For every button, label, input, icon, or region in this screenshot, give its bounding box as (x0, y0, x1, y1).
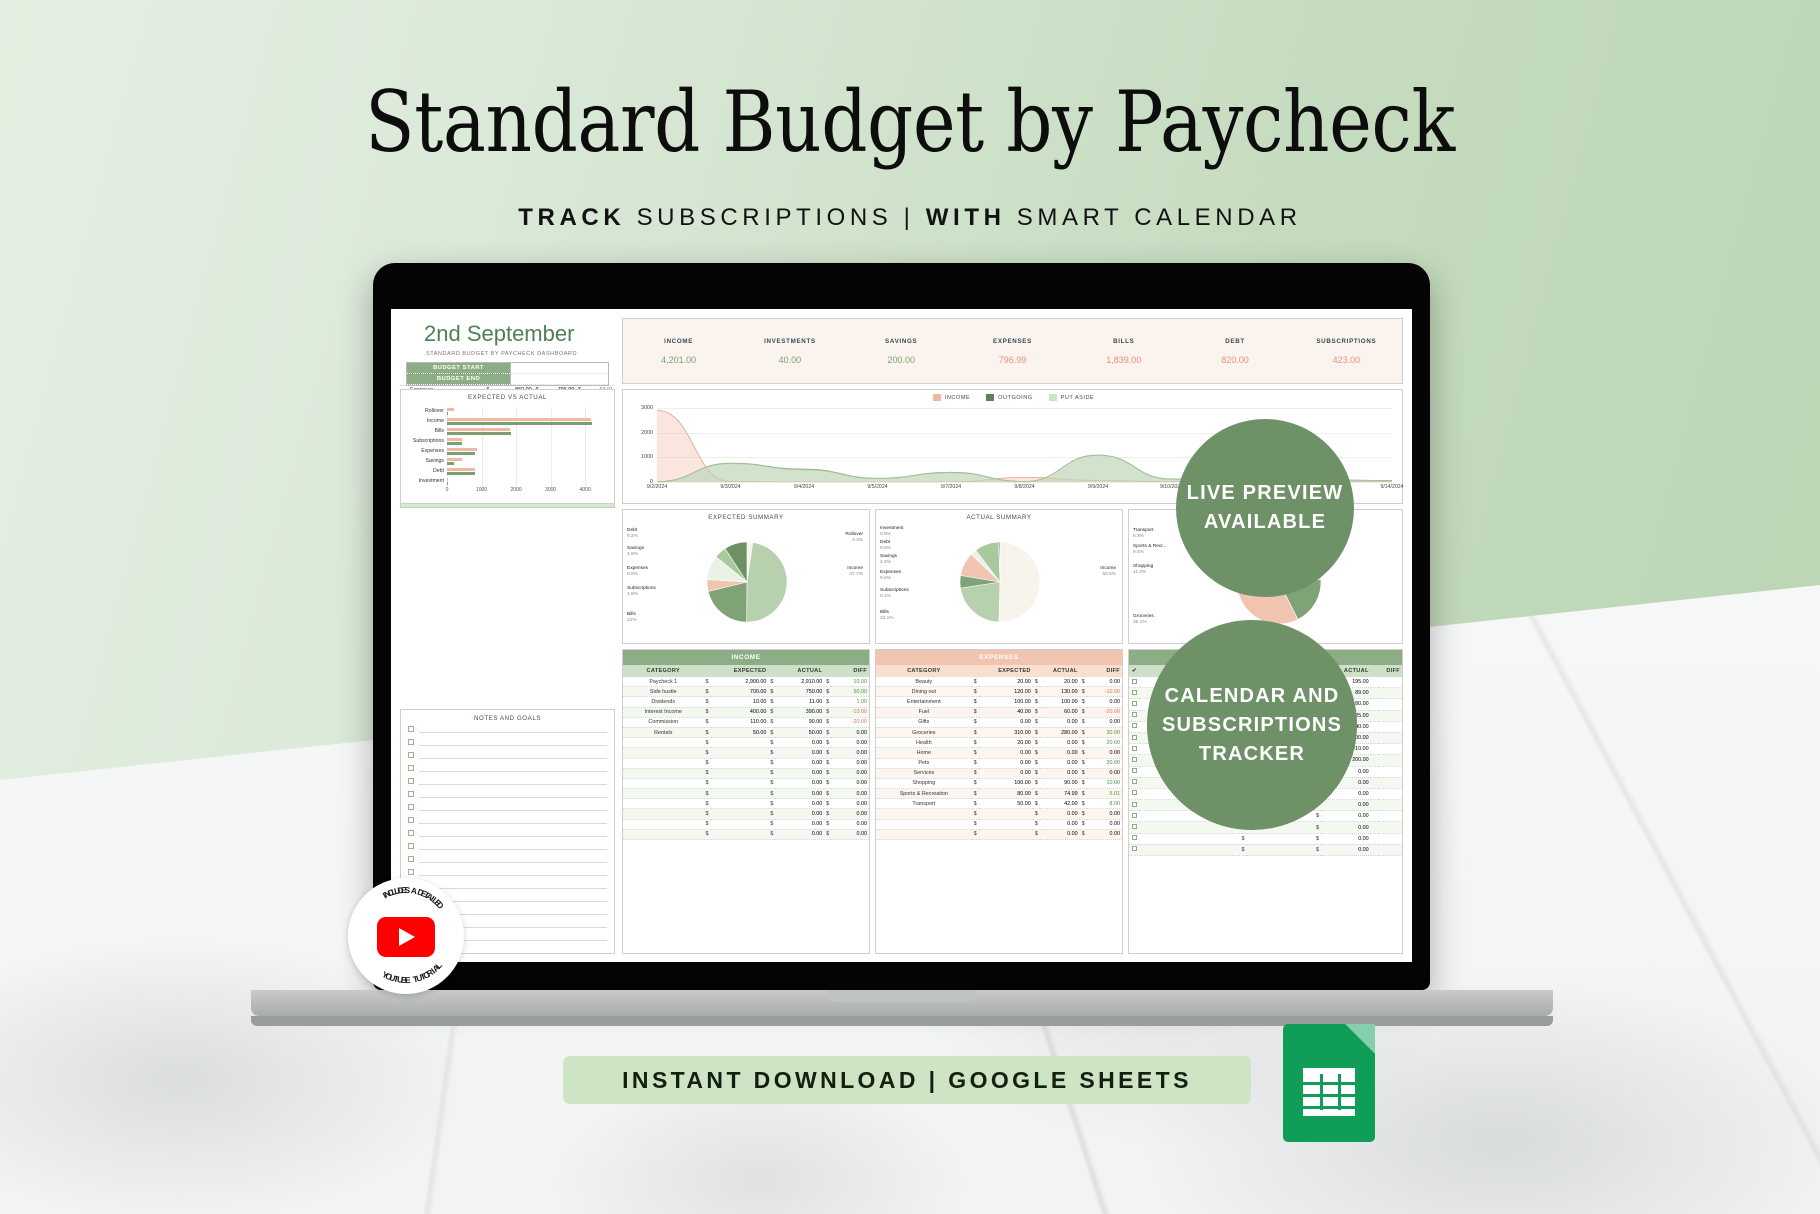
row-actual: 90.00 (1040, 778, 1080, 788)
note-line[interactable] (408, 839, 607, 852)
row-diff (1378, 811, 1402, 822)
row-currency: $ (972, 778, 979, 788)
row-diff: -20.00 (1087, 707, 1122, 717)
eva-row: Subscriptions (447, 437, 599, 446)
row-diff (1378, 766, 1402, 777)
pie-label-percent: 9.8% (627, 572, 648, 578)
table-row[interactable]: $$0.00 (1129, 833, 1402, 844)
legend-item-income: INCOME (933, 394, 970, 401)
row-diff: 0.00 (831, 809, 869, 819)
row-category: Fuel (876, 707, 972, 717)
page-subtitle: TRACK SUBSCRIPTIONS | WITH SMART CALENDA… (0, 204, 1820, 232)
table-row[interactable]: $$0.00$0.00 (876, 829, 1122, 839)
sheets-grid (1303, 1068, 1355, 1116)
row-category (623, 778, 704, 788)
table-row[interactable]: $$0.00$0.00 (623, 809, 869, 819)
table-row[interactable]: $$0.00$0.00 (876, 819, 1122, 829)
row-currency: $ (704, 789, 711, 799)
row-currency: $ (704, 697, 711, 707)
pie-label-percent: 4.9% (627, 552, 644, 558)
row-currency: $ (1033, 717, 1040, 727)
table-row[interactable]: Dividends$10.00$11.00$1.00 (623, 697, 869, 707)
table-row[interactable]: Health$20.00$0.00$20.00 (876, 738, 1122, 748)
note-checkbox[interactable] (408, 830, 414, 836)
row-diff (1378, 744, 1402, 755)
note-line[interactable] (408, 865, 607, 878)
row-currency: $ (972, 738, 979, 748)
row-currency: $ (972, 727, 979, 737)
table-row[interactable]: $$0.00 (1129, 844, 1402, 855)
table-row[interactable]: $$0.00$0.00 (623, 768, 869, 778)
table-row[interactable]: Sports & Recreation$80.00$74.99$5.01 (876, 789, 1122, 799)
row-category (876, 829, 972, 839)
pie-label-bills: Bills21% (627, 612, 637, 625)
row-diff: 5.01 (1087, 789, 1122, 799)
row-currency: $ (1239, 844, 1246, 855)
row-checkbox[interactable] (1129, 822, 1140, 833)
row-diff: 10.00 (1087, 778, 1122, 788)
note-checkbox[interactable] (408, 726, 414, 732)
expenses-table: CATEGORYEXPECTEDACTUALDIFF Beauty$20.00$… (876, 665, 1122, 840)
note-checkbox[interactable] (408, 791, 414, 797)
note-line[interactable] (408, 774, 607, 787)
row-category (1140, 833, 1239, 844)
row-currency: $ (1033, 819, 1040, 829)
row-currency: $ (704, 687, 711, 697)
row-expected: 0.00 (979, 758, 1033, 768)
row-actual: 20.00 (1040, 677, 1080, 687)
row-currency: $ (972, 748, 979, 758)
area-x-tick: 9/5/2024 (867, 484, 887, 490)
note-checkbox[interactable] (408, 843, 414, 849)
note-input[interactable] (419, 802, 607, 811)
eva-row: Bills (447, 427, 599, 436)
row-actual: 0.00 (775, 819, 824, 829)
pie-slice-bills (960, 582, 1000, 622)
note-checkbox[interactable] (408, 856, 414, 862)
table-row[interactable]: Transport$50.00$42.00$8.00 (876, 799, 1122, 809)
row-currency: $ (1080, 799, 1087, 809)
row-category: Shopping (876, 778, 972, 788)
kpi-label: BILLS (1068, 338, 1179, 345)
table-row[interactable]: Fuel$40.00$60.00$-20.00 (876, 707, 1122, 717)
area-x-tick: 9/9/2024 (1088, 484, 1108, 490)
row-checkbox[interactable] (1129, 777, 1140, 788)
row-currency: $ (1080, 717, 1087, 727)
row-diff: -20.00 (831, 717, 869, 727)
row-expected: 40.00 (979, 707, 1033, 717)
sheets-grid-line (1303, 1082, 1355, 1085)
note-line[interactable] (408, 852, 607, 865)
row-category: Sports & Recreation (876, 789, 972, 799)
eva-bar-actual (447, 412, 448, 415)
note-input[interactable] (419, 789, 607, 798)
row-currency: $ (1080, 809, 1087, 819)
row-diff: 0.00 (831, 738, 869, 748)
row-currency: $ (1314, 811, 1321, 822)
row-actual: 74.99 (1040, 789, 1080, 799)
area-x-tick: 9/14/2024 (1380, 484, 1403, 490)
row-category (623, 809, 704, 819)
row-currency: $ (824, 768, 831, 778)
row-currency (1371, 822, 1378, 833)
table-row[interactable]: $$0.00$0.00 (623, 799, 869, 809)
pie-label-income: Income47.7% (847, 566, 863, 579)
row-currency: $ (1080, 819, 1087, 829)
eva-x-axis: 01000200030004000 (447, 487, 599, 497)
area-y-tick: 3000 (641, 405, 657, 411)
row-checkbox[interactable] (1129, 833, 1140, 844)
note-input[interactable] (419, 841, 607, 850)
row-currency: $ (1314, 844, 1321, 855)
row-actual: 0.00 (1040, 748, 1080, 758)
table-row[interactable]: Rentals$50.00$50.00$0.00 (623, 727, 869, 737)
table-row[interactable]: Paycheck 1$2,900.00$2,910.00$10.00 (623, 677, 869, 687)
dashboard-header: 2nd September STANDARD BUDGET BY PAYCHEC… (400, 318, 615, 384)
row-expected: 100.00 (979, 778, 1033, 788)
row-currency: $ (972, 677, 979, 687)
row-actual: 0.00 (775, 809, 824, 819)
row-diff: 20.00 (1087, 738, 1122, 748)
row-diff: -10.00 (831, 707, 869, 717)
pie-label-percent: 5.1% (880, 594, 909, 600)
pie-label-savings: Savings2.4% (880, 554, 897, 567)
table-row[interactable]: Gifts$0.00$0.00$0.00 (876, 717, 1122, 727)
laptop-notch (828, 990, 976, 1002)
row-currency (1371, 811, 1378, 822)
row-actual: 280.00 (1040, 727, 1080, 737)
row-currency: $ (824, 789, 831, 799)
row-expected (711, 789, 769, 799)
expenses-title: EXPENSES (876, 650, 1122, 665)
table-row[interactable]: Beauty$20.00$20.00$0.00 (876, 677, 1122, 687)
row-currency: $ (972, 829, 979, 839)
row-currency: $ (1033, 829, 1040, 839)
pie-label-percent: 22.1% (880, 616, 894, 622)
row-diff (1378, 788, 1402, 799)
table-row[interactable]: $$0.00$0.00 (623, 789, 869, 799)
sheets-grid-line (1338, 1074, 1341, 1110)
pie-svg (876, 510, 1122, 645)
note-input[interactable] (419, 763, 607, 772)
row-expected (711, 819, 769, 829)
pie-label-percent: 4.8% (627, 592, 656, 598)
pie-label-percent: 5.3% (1133, 534, 1153, 540)
note-checkbox[interactable] (408, 804, 414, 810)
row-currency: $ (1033, 799, 1040, 809)
notes-title: NOTES AND GOALS (401, 710, 614, 722)
row-category (623, 768, 704, 778)
row-currency: $ (704, 799, 711, 809)
row-expected (979, 809, 1033, 819)
row-actual: 0.00 (1321, 822, 1371, 833)
row-currency: $ (1080, 697, 1087, 707)
row-checkbox[interactable] (1129, 811, 1140, 822)
note-input[interactable] (419, 867, 607, 876)
row-actual: 0.00 (775, 768, 824, 778)
table-row[interactable]: $$0.00$0.00 (623, 758, 869, 768)
row-expected: 20.00 (979, 677, 1033, 687)
note-input[interactable] (419, 737, 607, 746)
row-actual: 50.00 (775, 727, 824, 737)
eva-bar-actual (447, 452, 475, 455)
note-input[interactable] (419, 776, 607, 785)
row-checkbox[interactable] (1129, 732, 1140, 743)
row-category: Home (876, 748, 972, 758)
table-row[interactable]: $$0.00$0.00 (623, 748, 869, 758)
pie-label-percent: 21% (627, 618, 637, 624)
note-input[interactable] (419, 724, 607, 733)
table-row[interactable]: Shopping$100.00$90.00$10.00 (876, 778, 1122, 788)
row-category (623, 748, 704, 758)
row-expected (1246, 833, 1313, 844)
seal-char: E (405, 975, 411, 985)
eva-bar-actual (447, 422, 592, 425)
expenses-body: Beauty$20.00$20.00$0.00Dining out$120.00… (876, 677, 1122, 840)
row-expected: 700.00 (711, 687, 769, 697)
row-currency: $ (824, 738, 831, 748)
row-checkbox[interactable] (1129, 788, 1140, 799)
note-checkbox[interactable] (408, 765, 414, 771)
row-category: Interest Income (623, 707, 704, 717)
row-actual: 390.00 (775, 707, 824, 717)
column-header: DIFF (1371, 665, 1402, 677)
dashboard-month: 2nd September (400, 318, 615, 347)
row-diff: 0.00 (831, 768, 869, 778)
budget-start-input[interactable] (510, 363, 608, 374)
kpi-value: 820.00 (1179, 355, 1290, 365)
row-diff: 0.00 (831, 829, 869, 839)
table-row[interactable]: $$0.00$0.00 (623, 778, 869, 788)
row-currency: $ (704, 768, 711, 778)
table-row[interactable]: Side hustle$700.00$750.00$50.00 (623, 687, 869, 697)
table-row[interactable]: Interest Income$400.00$390.00$-10.00 (623, 707, 869, 717)
row-category: Pets (876, 758, 972, 768)
row-currency: $ (704, 758, 711, 768)
kpi-income: INCOME4,201.00 (623, 338, 734, 365)
table-row[interactable]: Services$0.00$0.00$0.00 (876, 768, 1122, 778)
row-currency: $ (768, 717, 775, 727)
eva-bar-expected (447, 438, 462, 441)
table-row[interactable]: $$0.00$0.00 (623, 738, 869, 748)
table-row[interactable]: Home$0.00$0.00$0.00 (876, 748, 1122, 758)
row-expected: 0.00 (979, 717, 1033, 727)
row-actual: 0.00 (775, 748, 824, 758)
row-diff (1378, 755, 1402, 766)
row-currency: $ (704, 778, 711, 788)
kpi-value: 423.00 (1291, 355, 1402, 365)
row-diff: 0.00 (831, 758, 869, 768)
row-diff: 0.00 (831, 799, 869, 809)
row-currency: $ (704, 707, 711, 717)
row-currency: $ (824, 758, 831, 768)
row-currency: $ (824, 819, 831, 829)
row-actual: 0.00 (775, 758, 824, 768)
table-row[interactable]: Dining out$120.00$130.00$-10.00 (876, 687, 1122, 697)
row-expected: 50.00 (711, 727, 769, 737)
row-currency: $ (1033, 789, 1040, 799)
note-checkbox[interactable] (408, 752, 414, 758)
row-actual: 0.00 (1321, 811, 1371, 822)
note-input[interactable] (419, 854, 607, 863)
table-row[interactable]: $$0.00$0.00 (876, 809, 1122, 819)
row-expected: 100.00 (979, 697, 1033, 707)
row-checkbox[interactable] (1129, 721, 1140, 732)
row-currency: $ (1033, 707, 1040, 717)
row-currency: $ (824, 809, 831, 819)
note-line[interactable] (408, 748, 607, 761)
row-actual: 0.00 (1040, 738, 1080, 748)
row-checkbox[interactable] (1129, 800, 1140, 811)
row-actual: 0.00 (775, 799, 824, 809)
note-line[interactable] (408, 722, 607, 735)
budget-end-input[interactable] (510, 374, 608, 385)
row-currency: $ (824, 717, 831, 727)
eva-category-label: Subscriptions (413, 437, 447, 446)
legend-item-outgoing: OUTGOING (986, 394, 1032, 401)
pie-label-percent: 9.2% (627, 534, 638, 540)
budget-end-row: BUDGET END (407, 374, 608, 385)
sheets-grid-line (1320, 1074, 1323, 1110)
row-checkbox[interactable] (1129, 755, 1140, 766)
row-currency: $ (972, 789, 979, 799)
row-checkbox[interactable] (1129, 710, 1140, 721)
row-currency: $ (704, 819, 711, 829)
table-row[interactable]: Entertainment$100.00$100.00$0.00 (876, 697, 1122, 707)
kpi-savings: SAVINGS200.00 (846, 338, 957, 365)
kpi-value: 40.00 (734, 355, 845, 365)
row-currency: $ (768, 727, 775, 737)
row-diff: 0.00 (1087, 697, 1122, 707)
note-checkbox[interactable] (408, 778, 414, 784)
note-line[interactable] (408, 813, 607, 826)
note-checkbox[interactable] (408, 739, 414, 745)
row-category: Dining out (876, 687, 972, 697)
row-currency: $ (1080, 829, 1087, 839)
pie-slice-income (999, 542, 1040, 622)
row-currency: $ (1314, 833, 1321, 844)
row-category: Dividends (623, 697, 704, 707)
row-actual: 90.00 (775, 717, 824, 727)
row-currency: $ (1033, 748, 1040, 758)
row-currency: $ (824, 799, 831, 809)
legend-swatch (1049, 394, 1057, 401)
eva-bar-actual (447, 462, 454, 465)
note-input[interactable] (419, 828, 607, 837)
subtitle-subscriptions: SUBSCRIPTIONS | (637, 204, 915, 231)
note-line[interactable] (408, 800, 607, 813)
row-currency (1371, 788, 1378, 799)
row-currency: $ (768, 768, 775, 778)
row-checkbox[interactable] (1129, 766, 1140, 777)
note-line[interactable] (408, 735, 607, 748)
note-checkbox[interactable] (408, 817, 414, 823)
note-input[interactable] (419, 815, 607, 824)
subtitle-track: TRACK (518, 204, 625, 231)
note-line[interactable] (408, 826, 607, 839)
row-currency: $ (704, 809, 711, 819)
area-x-tick: 9/3/2024 (720, 484, 740, 490)
kpi-label: INVESTMENTS (734, 338, 845, 345)
row-currency: $ (972, 809, 979, 819)
sheets-grid-line (1303, 1094, 1355, 1097)
row-diff: -10.00 (1087, 687, 1122, 697)
row-expected: 310.00 (979, 727, 1033, 737)
eva-bar-expected (447, 478, 448, 481)
row-currency (1371, 755, 1378, 766)
income-table-panel: INCOME CATEGORYEXPECTEDACTUALDIFF Payche… (622, 649, 870, 954)
row-category (876, 809, 972, 819)
pie-label-percent: 50.5% (1100, 572, 1116, 578)
row-category: Health (876, 738, 972, 748)
note-input[interactable] (419, 750, 607, 759)
kpi-label: SUBSCRIPTIONS (1291, 338, 1402, 345)
row-checkbox[interactable] (1129, 677, 1140, 688)
pie-label-percent: 9.9% (880, 546, 891, 552)
note-checkbox[interactable] (408, 869, 414, 875)
table-row[interactable]: $$0.00$0.00 (623, 829, 869, 839)
table-row[interactable]: $$0.00$0.00 (623, 819, 869, 829)
budget-end-label: BUDGET END (407, 374, 510, 385)
area-y-tick: 1000 (641, 454, 657, 460)
row-diff: 1.00 (831, 697, 869, 707)
row-currency: $ (824, 707, 831, 717)
row-currency (1371, 777, 1378, 788)
row-diff: 0.00 (1087, 677, 1122, 687)
row-checkbox[interactable] (1129, 688, 1140, 699)
column-header: ACTUAL (1033, 665, 1080, 677)
pie-svg (623, 510, 869, 645)
income-body: Paycheck 1$2,900.00$2,910.00$10.00Side h… (623, 677, 869, 840)
eva-bar-expected (447, 458, 462, 461)
row-currency: $ (824, 778, 831, 788)
row-currency: $ (972, 717, 979, 727)
row-checkbox[interactable] (1129, 699, 1140, 710)
row-currency: $ (1080, 789, 1087, 799)
pie-label-percent: 35.1% (1133, 620, 1154, 626)
row-diff: 0.00 (831, 789, 869, 799)
note-line[interactable] (408, 787, 607, 800)
row-diff (1378, 677, 1402, 688)
row-currency: $ (768, 697, 775, 707)
kpi-value: 200.00 (846, 355, 957, 365)
column-header: DIFF (824, 665, 869, 677)
row-actual: 0.00 (1040, 829, 1080, 839)
eva-category-label: Debt (433, 467, 447, 476)
row-category (623, 829, 704, 839)
row-checkbox[interactable] (1129, 744, 1140, 755)
pie-label-shopping: Shopping11.3% (1133, 564, 1153, 577)
table-row[interactable]: Commission$110.00$90.00$-20.00 (623, 717, 869, 727)
note-line[interactable] (408, 761, 607, 774)
row-checkbox[interactable] (1129, 844, 1140, 855)
row-expected (711, 809, 769, 819)
row-currency: $ (1314, 822, 1321, 833)
row-currency: $ (704, 677, 711, 687)
row-currency: $ (1033, 677, 1040, 687)
row-category: Gifts (876, 717, 972, 727)
pie-label-transport: Transport5.3% (1133, 528, 1153, 541)
column-header: EXPECTED (704, 665, 769, 677)
row-category: Groceries (876, 727, 972, 737)
row-currency: $ (704, 748, 711, 758)
table-row[interactable]: Pets$0.00$0.00$20.00 (876, 758, 1122, 768)
area-x-tick: 9/7/2024 (941, 484, 961, 490)
row-diff: 0.00 (1087, 748, 1122, 758)
pie-label-investment: Investment0.5% (880, 526, 903, 539)
table-row[interactable]: Groceries$310.00$280.00$30.00 (876, 727, 1122, 737)
row-currency: $ (972, 687, 979, 697)
